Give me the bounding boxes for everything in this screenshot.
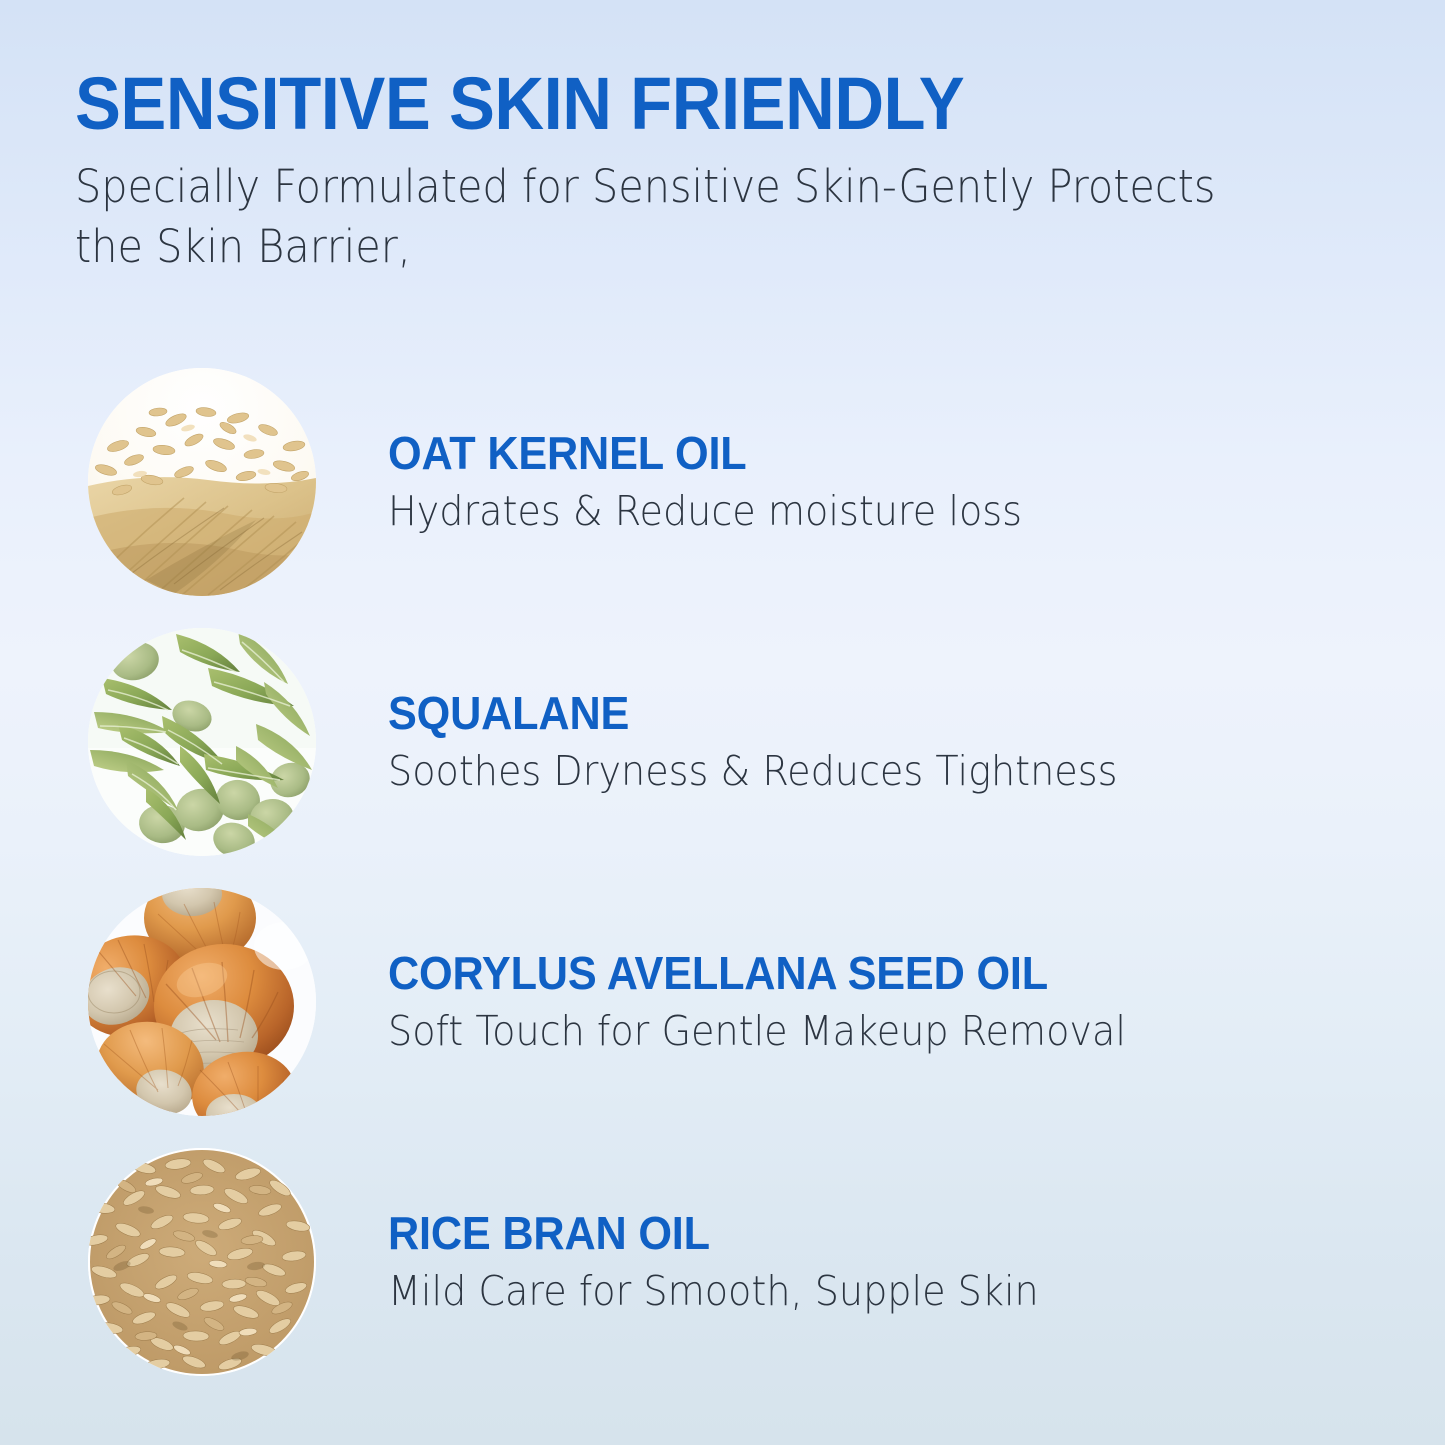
ingredient-name: SQUALANE bbox=[388, 689, 1125, 738]
page-subtitle: Specially Formulated for Sensitive Skin-… bbox=[75, 157, 1262, 277]
ingredient-text: RICE BRAN OIL Mild Care for Smooth, Supp… bbox=[388, 1209, 1088, 1315]
rice-bran-grains-photo bbox=[88, 1148, 316, 1376]
ingredient-description: Soothes Dryness & Reduces Tightness bbox=[388, 747, 1117, 795]
oat-grains-photo bbox=[88, 368, 316, 596]
olive-leaves-photo bbox=[88, 628, 316, 856]
header-block: SENSITIVE SKIN FRIENDLY Specially Formul… bbox=[75, 68, 1365, 277]
ingredient-name: OAT KERNEL OIL bbox=[388, 429, 1029, 478]
ingredient-text: OAT KERNEL OIL Hydrates & Reduce moistur… bbox=[388, 429, 1070, 535]
ingredient-text: SQUALANE Soothes Dryness & Reduces Tight… bbox=[388, 689, 1172, 795]
ingredient-name: RICE BRAN OIL bbox=[388, 1209, 1046, 1258]
list-item: OAT KERNEL OIL Hydrates & Reduce moistur… bbox=[88, 368, 1388, 596]
ingredient-name: CORYLUS AVELLANA SEED OIL bbox=[388, 949, 1134, 998]
ingredient-description: Mild Care for Smooth, Supple Skin bbox=[388, 1267, 1039, 1315]
ingredient-description: Hydrates & Reduce moisture loss bbox=[388, 487, 1022, 535]
ingredient-description: Soft Touch for Gentle Makeup Removal bbox=[388, 1007, 1126, 1055]
page-title: SENSITIVE SKIN FRIENDLY bbox=[75, 68, 1275, 139]
ingredient-text: CORYLUS AVELLANA SEED OIL Soft Touch for… bbox=[388, 949, 1181, 1055]
list-item: SQUALANE Soothes Dryness & Reduces Tight… bbox=[88, 628, 1388, 856]
list-item: CORYLUS AVELLANA SEED OIL Soft Touch for… bbox=[88, 888, 1388, 1116]
hazelnuts-photo bbox=[88, 888, 316, 1116]
list-item: RICE BRAN OIL Mild Care for Smooth, Supp… bbox=[88, 1148, 1388, 1376]
